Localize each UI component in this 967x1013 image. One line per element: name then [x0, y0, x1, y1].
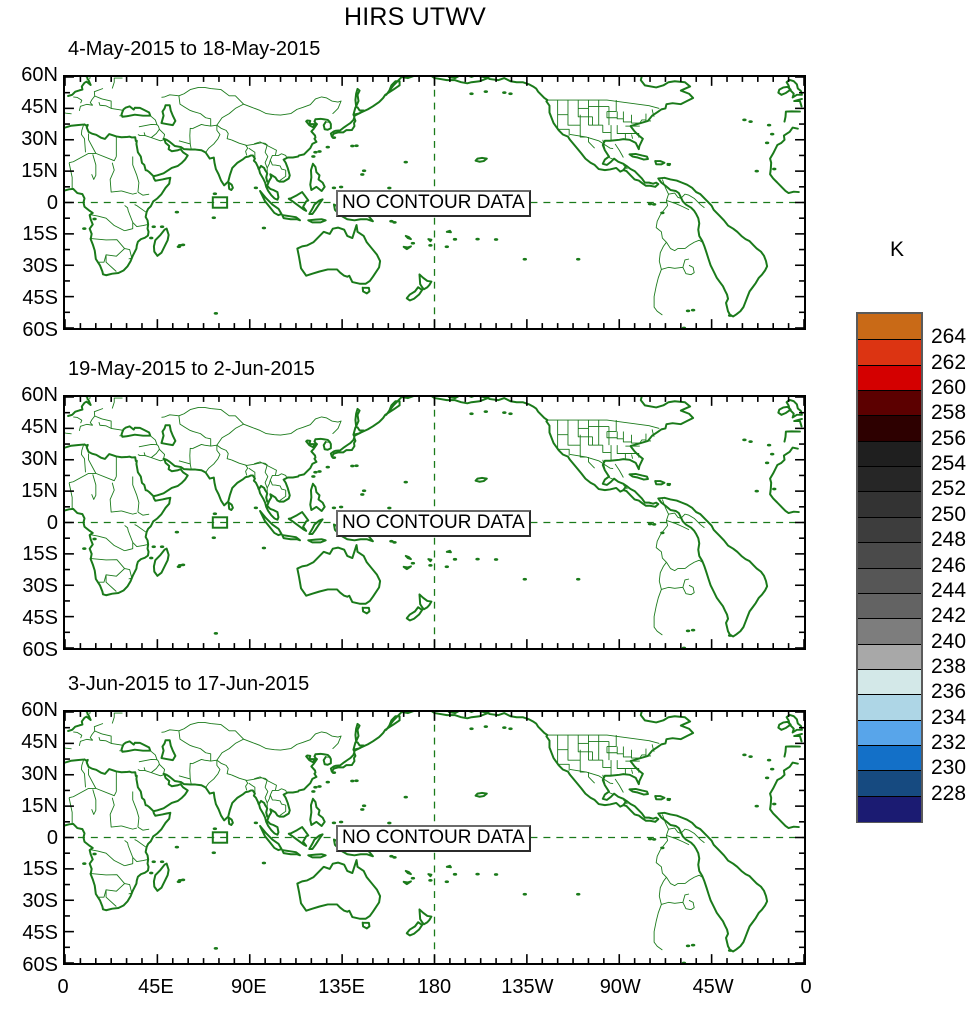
colorbar-tick-label: 232 [931, 732, 966, 753]
y-tick-label: 45N [2, 97, 58, 117]
y-tick-label: 15S [2, 544, 58, 564]
x-tick-label: 135E [307, 977, 377, 997]
colorbar-band [858, 365, 921, 391]
no-contour-note-3: NO CONTOUR DATA [336, 825, 531, 852]
colorbar-band [858, 669, 921, 695]
panel-title-1: 4-May-2015 to 18-May-2015 [68, 38, 320, 61]
colorbar-tick-label: 236 [931, 681, 966, 702]
y-tick-label: 45S [2, 608, 58, 628]
colorbar-tick-label: 244 [931, 580, 966, 601]
colorbar-tick-label: 254 [931, 453, 966, 474]
panel-title-2: 19-May-2015 to 2-Jun-2015 [68, 358, 315, 381]
y-tick-label: 60S [2, 955, 58, 975]
x-tick-label: 0 [28, 977, 98, 997]
y-tick-label: 45N [2, 732, 58, 752]
colorbar[interactable] [856, 312, 923, 823]
colorbar-tick-label: 238 [931, 656, 966, 677]
colorbar-band [858, 491, 921, 517]
colorbar-tick-label: 228 [931, 783, 966, 804]
y-tick-label: 0 [2, 193, 58, 213]
y-tick-label: 30N [2, 764, 58, 784]
colorbar-band [858, 314, 921, 340]
y-tick-label: 60N [2, 385, 58, 405]
page-title: HIRS UTWV [0, 3, 830, 32]
y-tick-label: 30N [2, 129, 58, 149]
colorbar-tick-label: 250 [931, 504, 966, 525]
colorbar-band [858, 694, 921, 720]
x-tick-label: 90E [214, 977, 284, 997]
y-tick-label: 15N [2, 161, 58, 181]
colorbar-band [858, 339, 921, 365]
colorbar-tick-label: 246 [931, 555, 966, 576]
colorbar-tick-label: 230 [931, 757, 966, 778]
colorbar-group: K 26426226025825625425225024824624424224… [845, 230, 967, 830]
colorbar-band [858, 542, 921, 568]
colorbar-tick-label: 248 [931, 529, 966, 550]
colorbar-tick-label: 242 [931, 605, 966, 626]
panel-title-3: 3-Jun-2015 to 17-Jun-2015 [68, 673, 309, 696]
x-tick-label: 90W [585, 977, 655, 997]
y-tick-label: 30S [2, 891, 58, 911]
y-tick-label: 30S [2, 256, 58, 276]
colorbar-band [858, 770, 921, 796]
colorbar-tick-label: 234 [931, 707, 966, 728]
colorbar-band [858, 466, 921, 492]
y-tick-label: 15S [2, 859, 58, 879]
colorbar-band [858, 618, 921, 644]
y-tick-label: 0 [2, 828, 58, 848]
x-tick-label: 135W [492, 977, 562, 997]
y-tick-label: 45S [2, 288, 58, 308]
colorbar-band [858, 441, 921, 467]
colorbar-band [858, 390, 921, 416]
y-tick-label: 15S [2, 224, 58, 244]
colorbar-band [858, 720, 921, 746]
y-tick-label: 30S [2, 576, 58, 596]
figure-canvas: HIRS UTWV 4-May-2015 to 18-May-2015 60N4… [0, 0, 967, 1013]
x-tick-label: 180 [400, 977, 470, 997]
colorbar-tick-label: 256 [931, 428, 966, 449]
no-contour-note-2: NO CONTOUR DATA [336, 510, 531, 537]
colorbar-tick-label: 262 [931, 352, 966, 373]
x-tick-label: 0 [771, 977, 841, 997]
colorbar-tick-label: 264 [931, 326, 966, 347]
colorbar-band [858, 517, 921, 543]
x-tick-label: 45W [678, 977, 748, 997]
y-tick-label: 45N [2, 417, 58, 437]
y-tick-label: 60S [2, 640, 58, 660]
y-tick-label: 30N [2, 449, 58, 469]
colorbar-band [858, 796, 921, 822]
y-tick-label: 45S [2, 923, 58, 943]
y-tick-label: 60S [2, 320, 58, 340]
colorbar-band [858, 568, 921, 594]
colorbar-unit-label: K [890, 238, 904, 262]
colorbar-tick-label: 258 [931, 402, 966, 423]
colorbar-tick-label: 252 [931, 478, 966, 499]
colorbar-band [858, 745, 921, 771]
colorbar-band [858, 644, 921, 670]
y-tick-label: 60N [2, 700, 58, 720]
y-tick-label: 0 [2, 513, 58, 533]
y-tick-label: 15N [2, 796, 58, 816]
colorbar-band [858, 593, 921, 619]
x-tick-label: 45E [121, 977, 191, 997]
colorbar-tick-label: 260 [931, 377, 966, 398]
colorbar-band [858, 415, 921, 441]
no-contour-note-1: NO CONTOUR DATA [336, 190, 531, 217]
y-tick-label: 15N [2, 481, 58, 501]
y-tick-label: 60N [2, 65, 58, 85]
colorbar-tick-label: 240 [931, 631, 966, 652]
